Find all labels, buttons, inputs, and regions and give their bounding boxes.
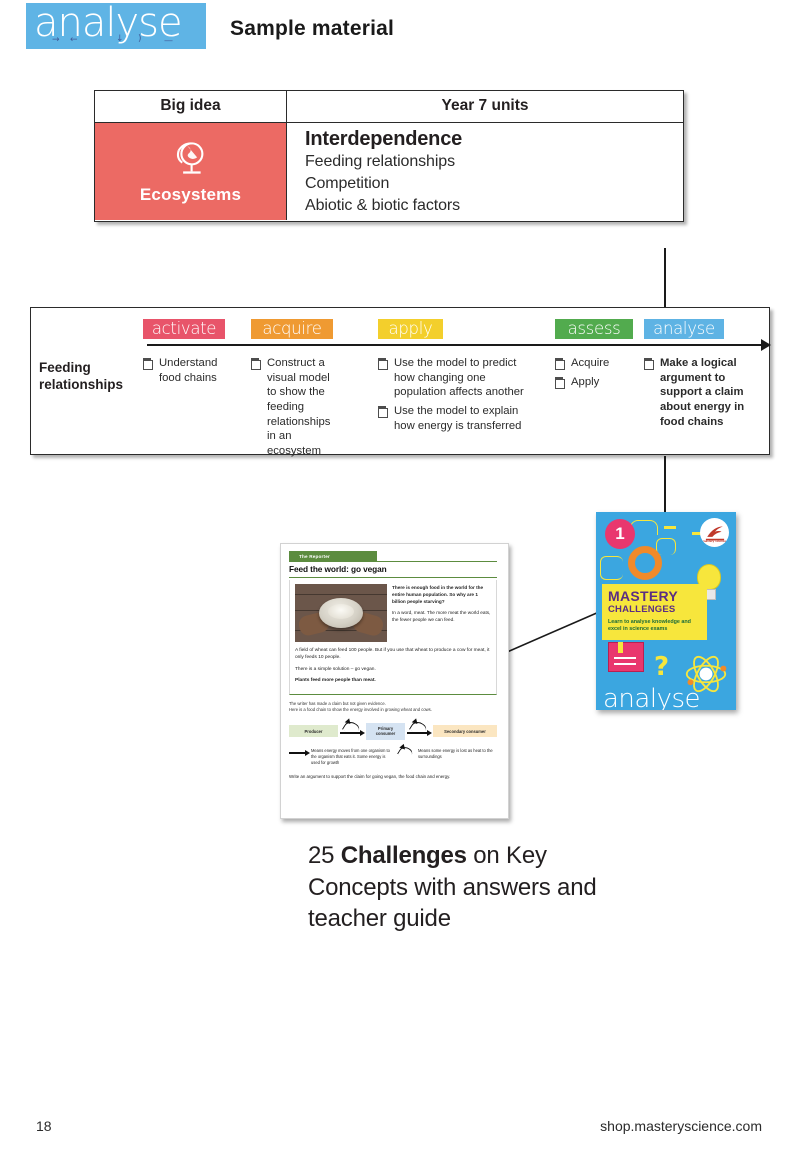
objective-column-analyse: Make a logical argument to support a cla…	[644, 356, 756, 433]
note-line: Here is a food chain to show the energy …	[289, 707, 497, 714]
checkbox-icon[interactable]	[378, 360, 388, 370]
checkbox-icon[interactable]	[251, 360, 261, 370]
footer-url[interactable]: shop.masteryscience.com	[600, 1118, 762, 1134]
list-item[interactable]: Use the model to predict how changing on…	[378, 356, 533, 400]
checkbox-icon[interactable]	[143, 360, 153, 370]
objective-text: Construct a visual model to show the fee…	[267, 356, 341, 459]
stage-badge-activate: activate	[143, 319, 225, 339]
stage-badge-analyse: analyse	[644, 319, 724, 339]
objective-text: Understand food chains	[159, 356, 231, 385]
doodle-squiggle-icon	[600, 556, 623, 580]
stage-badge-apply: apply	[378, 319, 443, 339]
caption-count: 25	[308, 842, 334, 869]
lede-paragraph: There is enough food in the world for th…	[392, 584, 491, 605]
unit-topic-list: Feeding relationships Competition Abioti…	[305, 151, 683, 217]
doodle-dash: —	[164, 36, 173, 46]
globe-icon	[170, 139, 212, 181]
objective-column-assess: Acquire Apply	[555, 356, 635, 393]
column-header-year7-units: Year 7 units	[287, 91, 683, 123]
connector-progression-to-resources	[664, 456, 666, 514]
worksheet-thumbnail[interactable]: The Reporter Feed the world: go vegan Th…	[280, 543, 509, 819]
chain-node-primary-consumer: Primary consumer	[366, 723, 405, 740]
straight-arrow-icon	[289, 748, 311, 758]
worksheet-title: Feed the world: go vegan	[289, 564, 497, 574]
list-item[interactable]: Understand food chains	[143, 356, 231, 385]
energy-transfer-arrow-icon	[338, 723, 366, 739]
caption-bold-word: Challenges	[341, 842, 467, 869]
big-idea-label: Ecosystems	[140, 185, 241, 205]
paragraph: A field of wheat can feed 100 people. Bu…	[295, 647, 491, 662]
big-idea-table: Big idea Year 7 units Ecosystems Interde…	[94, 90, 684, 222]
worksheet-note: The writer has made a claim but not give…	[289, 701, 497, 714]
stage-badge-acquire: acquire	[251, 319, 333, 339]
objective-column-apply: Use the model to predict how changing on…	[378, 356, 533, 437]
cover-brand-word: analyse	[603, 684, 700, 710]
unit-title: Interdependence	[305, 128, 683, 151]
logo-text: mastery science	[703, 539, 726, 543]
cover-title-band: MASTERY CHALLENGES Learn to analyse know…	[602, 584, 707, 640]
chain-node-producer: Producer	[289, 725, 338, 737]
progression-panel: activate acquire apply assess analyse Fe…	[30, 307, 770, 455]
paragraph: There is a simple solution – go vegan.	[295, 666, 491, 673]
key-text: Means some energy is lost as heat to the…	[418, 748, 497, 760]
cell-big-idea-ecosystems: Ecosystems	[95, 123, 287, 220]
paragraph: Plants feed more people than meat.	[295, 677, 491, 684]
checkbox-icon[interactable]	[555, 360, 565, 370]
chain-node-secondary-consumer: Secondary consumer	[433, 725, 497, 737]
cover-title: MASTERY	[608, 589, 701, 603]
worksheet-kicker: The Reporter	[289, 551, 377, 561]
page-number: 18	[36, 1118, 52, 1134]
stage-badge-assess: assess	[555, 319, 633, 339]
checkbox-icon[interactable]	[555, 379, 565, 389]
analyse-brand-logo: ↑ ⟳ analyse → ← ↓ ) —	[26, 3, 206, 49]
list-item: Feeding relationships	[305, 151, 683, 173]
list-item[interactable]: Use the model to explain how energy is t…	[378, 404, 533, 433]
list-item[interactable]: Make a logical argument to support a cla…	[644, 356, 756, 429]
book-icon	[608, 642, 644, 672]
cell-year7-units: Interdependence Feeding relationships Co…	[287, 123, 683, 221]
energy-transfer-arrow-icon	[405, 723, 433, 739]
wavy-arrow-icon	[396, 748, 418, 758]
table-header-row: Big idea Year 7 units	[95, 91, 683, 123]
objective-text: Use the model to explain how energy is t…	[394, 404, 533, 433]
key-text: Means energy moves from one organism to …	[311, 748, 390, 766]
worksheet-body: There is enough food in the world for th…	[289, 580, 497, 695]
worksheet-title-rule: Feed the world: go vegan	[289, 561, 497, 578]
lede-paragraph: In a word, meat. The more meat the world…	[392, 609, 491, 623]
objective-column-activate: Understand food chains	[143, 356, 231, 389]
list-item[interactable]: Construct a visual model to show the fee…	[251, 356, 341, 459]
list-item[interactable]: Acquire	[555, 356, 635, 371]
checkbox-icon[interactable]	[378, 408, 388, 418]
list-item: Competition	[305, 173, 683, 195]
doodle-paren: )	[138, 34, 142, 44]
doodle-arrow-down: ↓	[116, 34, 124, 44]
objective-text: Apply	[571, 375, 599, 390]
mastery-science-logo: mastery science	[700, 518, 729, 547]
page-header: ↑ ⟳ analyse → ← ↓ ) — Sample material	[0, 0, 800, 62]
food-chain-diagram: Producer Primary consumer Secondary cons…	[289, 723, 497, 740]
food-chain-key: Means energy moves from one organism to …	[289, 748, 497, 766]
worksheet-task: Write an argument to support the claim f…	[289, 774, 497, 779]
objective-text: Acquire	[571, 356, 609, 371]
objective-text: Use the model to predict how changing on…	[394, 356, 533, 400]
key-entry-energy-transfer: Means energy moves from one organism to …	[289, 748, 390, 766]
hands-holding-empty-bowl-photo	[295, 584, 387, 642]
page-title: Sample material	[230, 17, 394, 41]
doodle-arrow-right: →	[52, 35, 60, 45]
doodle-arrow-left: ←	[70, 35, 78, 45]
column-header-big-idea: Big idea	[95, 91, 287, 123]
key-entry-heat-loss: Means some energy is lost as heat to the…	[396, 748, 497, 766]
book-cover-mastery-challenges[interactable]: ? 1 mastery science MASTERY CHALLENGES L…	[596, 512, 736, 710]
cover-strapline: Learn to analyse knowledge and excel in …	[608, 619, 701, 635]
gear-icon	[628, 546, 662, 580]
resource-caption: 25 Challenges on Key Concepts with answe…	[308, 840, 628, 935]
worksheet-lede: There is enough food in the world for th…	[392, 584, 491, 642]
worksheet-paragraphs: A field of wheat can feed 100 people. Bu…	[295, 647, 491, 685]
connector-table-to-progression	[664, 248, 666, 308]
question-mark-icon: ?	[654, 652, 669, 682]
objective-column-acquire: Construct a visual model to show the fee…	[251, 356, 341, 463]
objective-text: Make a logical argument to support a cla…	[660, 356, 756, 429]
checkbox-icon[interactable]	[644, 360, 654, 370]
progression-axis	[147, 344, 763, 346]
cover-number-badge: 1	[605, 519, 635, 549]
progression-row-label: Feeding relationships	[39, 360, 139, 394]
list-item[interactable]: Apply	[555, 375, 635, 390]
list-item: Abiotic & biotic factors	[305, 195, 683, 217]
connector-worksheet-to-cover	[505, 608, 601, 656]
doodle-bar-icon	[664, 526, 676, 529]
cover-subtitle: CHALLENGES	[608, 605, 701, 615]
axis-arrow-icon	[761, 339, 771, 351]
table-row: Ecosystems Interdependence Feeding relat…	[95, 123, 683, 221]
